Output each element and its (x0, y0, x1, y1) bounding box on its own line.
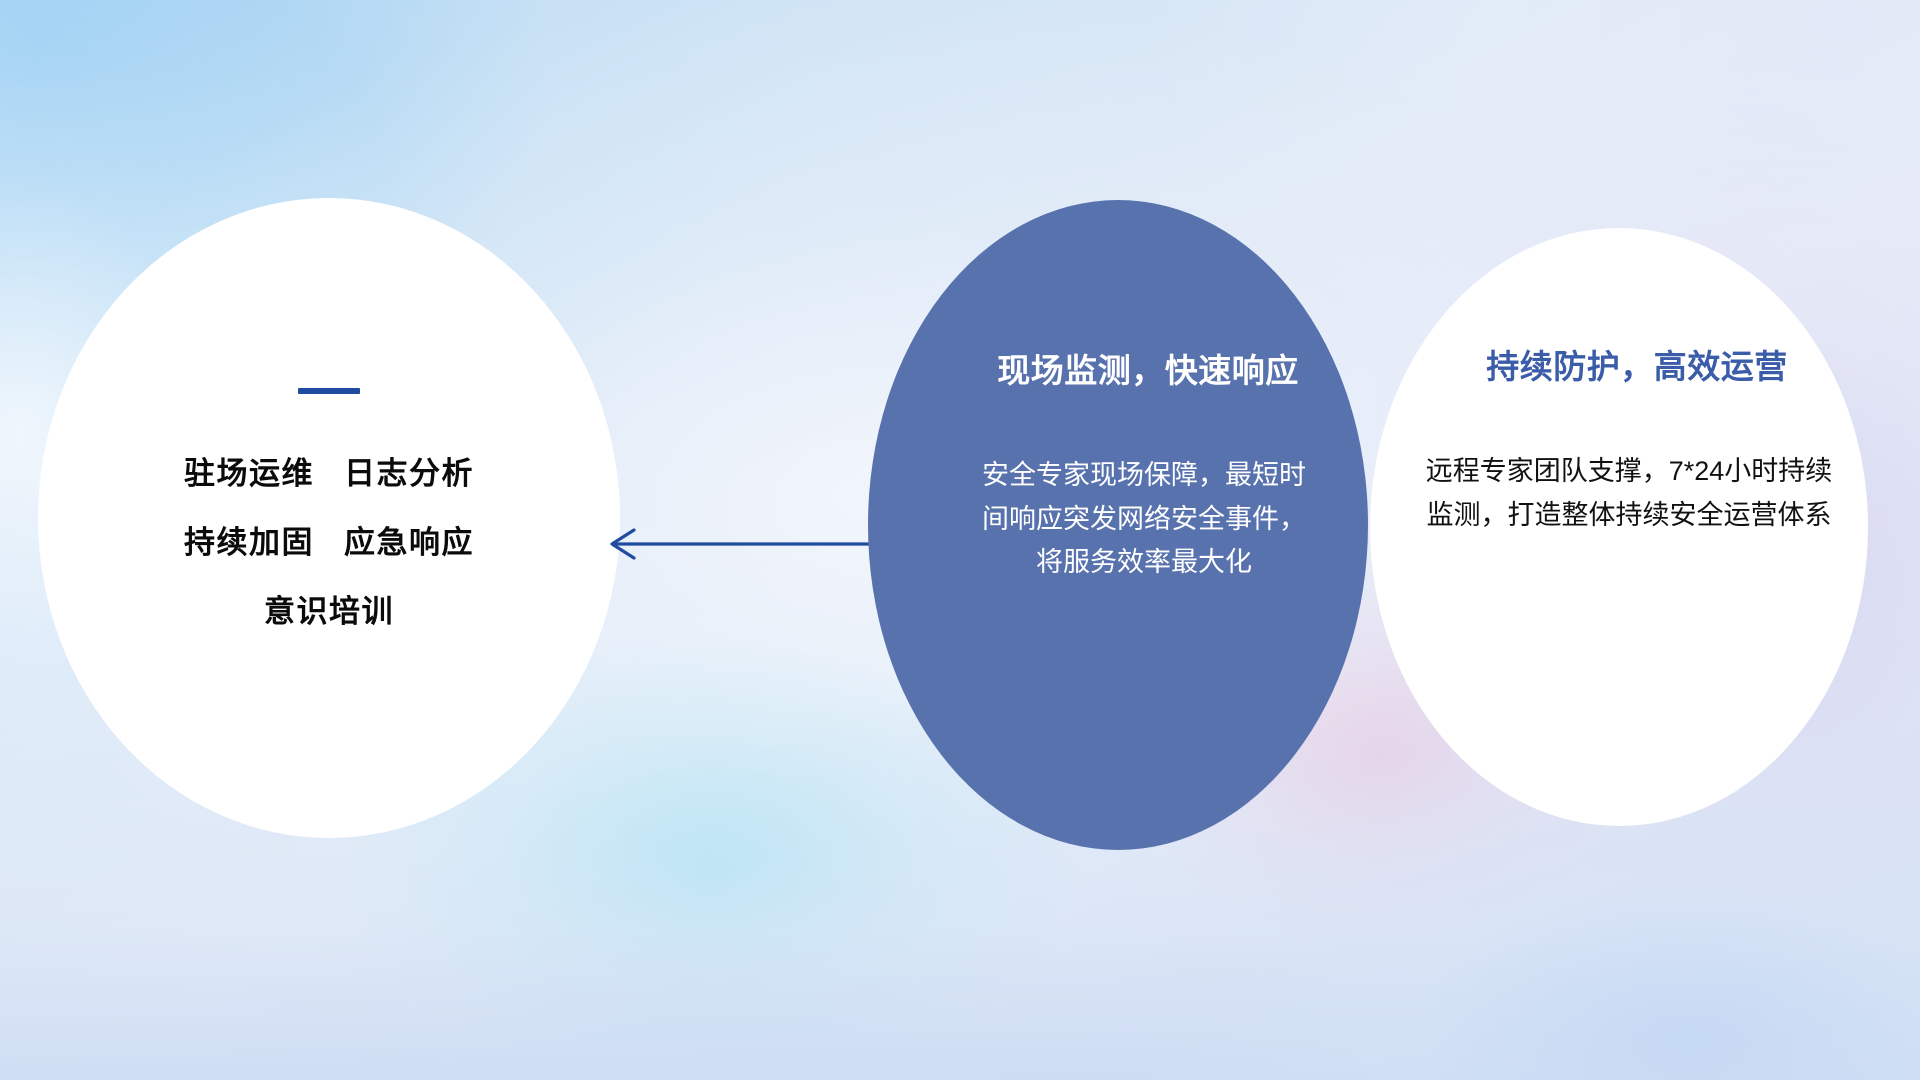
left-circle-node[interactable]: 驻场运维日志分析 持续加固应急响应 意识培训 (38, 198, 620, 838)
accent-dash-icon (298, 388, 360, 394)
center-circle-content: 现场监测，快速响应 安全专家现场保障，最短时间响应突发网络安全事件，将服务效率最… (868, 200, 1368, 850)
center-circle-node[interactable]: 现场监测，快速响应 安全专家现场保障，最短时间响应突发网络安全事件，将服务效率最… (868, 200, 1368, 850)
left-circle-tag-zhuchangyunwei: 驻场运维 (184, 456, 314, 491)
right-circle-content: 持续防护，高效运营 远程专家团队支撑，7*24小时持续监测，打造整体持续安全运营… (1370, 228, 1868, 826)
left-arrow-icon (600, 512, 880, 576)
arrow-connector (600, 512, 880, 576)
right-circle-node[interactable]: 持续防护，高效运营 远程专家团队支撑，7*24小时持续监测，打造整体持续安全运营… (1370, 228, 1868, 826)
left-circle-row-3: 意识培训 (38, 596, 620, 627)
slide-canvas: 驻场运维日志分析 持续加固应急响应 意识培训 现场监测，快速响应 安全专家现场保… (0, 0, 1920, 1080)
left-circle-row-1: 驻场运维日志分析 (38, 458, 620, 489)
left-circle-tag-chixujiagu: 持续加固 (184, 525, 314, 560)
left-circle-tag-rizhifenxi: 日志分析 (344, 456, 474, 491)
left-circle-tag-yingjixiangying: 应急响应 (344, 525, 474, 560)
left-circle-content: 驻场运维日志分析 持续加固应急响应 意识培训 (38, 388, 620, 627)
left-circle-row-2: 持续加固应急响应 (38, 527, 620, 558)
right-circle-title: 持续防护，高效运营 (1486, 340, 1788, 388)
center-circle-title: 现场监测，快速响应 (997, 344, 1299, 392)
right-circle-body: 远程专家团队支撑，7*24小时持续监测，打造整体持续安全运营体系 (1420, 450, 1838, 537)
left-circle-tag-yishipeixun: 意识培训 (264, 594, 394, 629)
center-circle-body: 安全专家现场保障，最短时间响应突发网络安全事件，将服务效率最大化 (979, 454, 1309, 585)
